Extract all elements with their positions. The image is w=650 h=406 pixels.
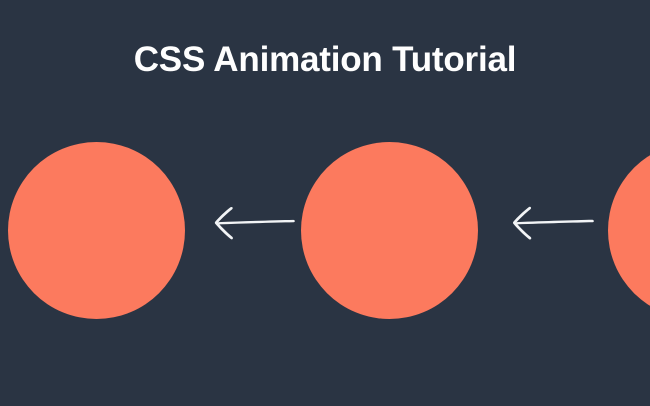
left-arrow-icon-1 (200, 198, 295, 246)
left-arrow-icon-2 (498, 198, 594, 246)
animation-canvas: CSS Animation Tutorial (0, 0, 650, 406)
page-title: CSS Animation Tutorial (0, 38, 650, 82)
animated-circle-right (608, 142, 650, 319)
animated-circle-middle (301, 142, 478, 319)
animated-circle-left (8, 142, 185, 319)
